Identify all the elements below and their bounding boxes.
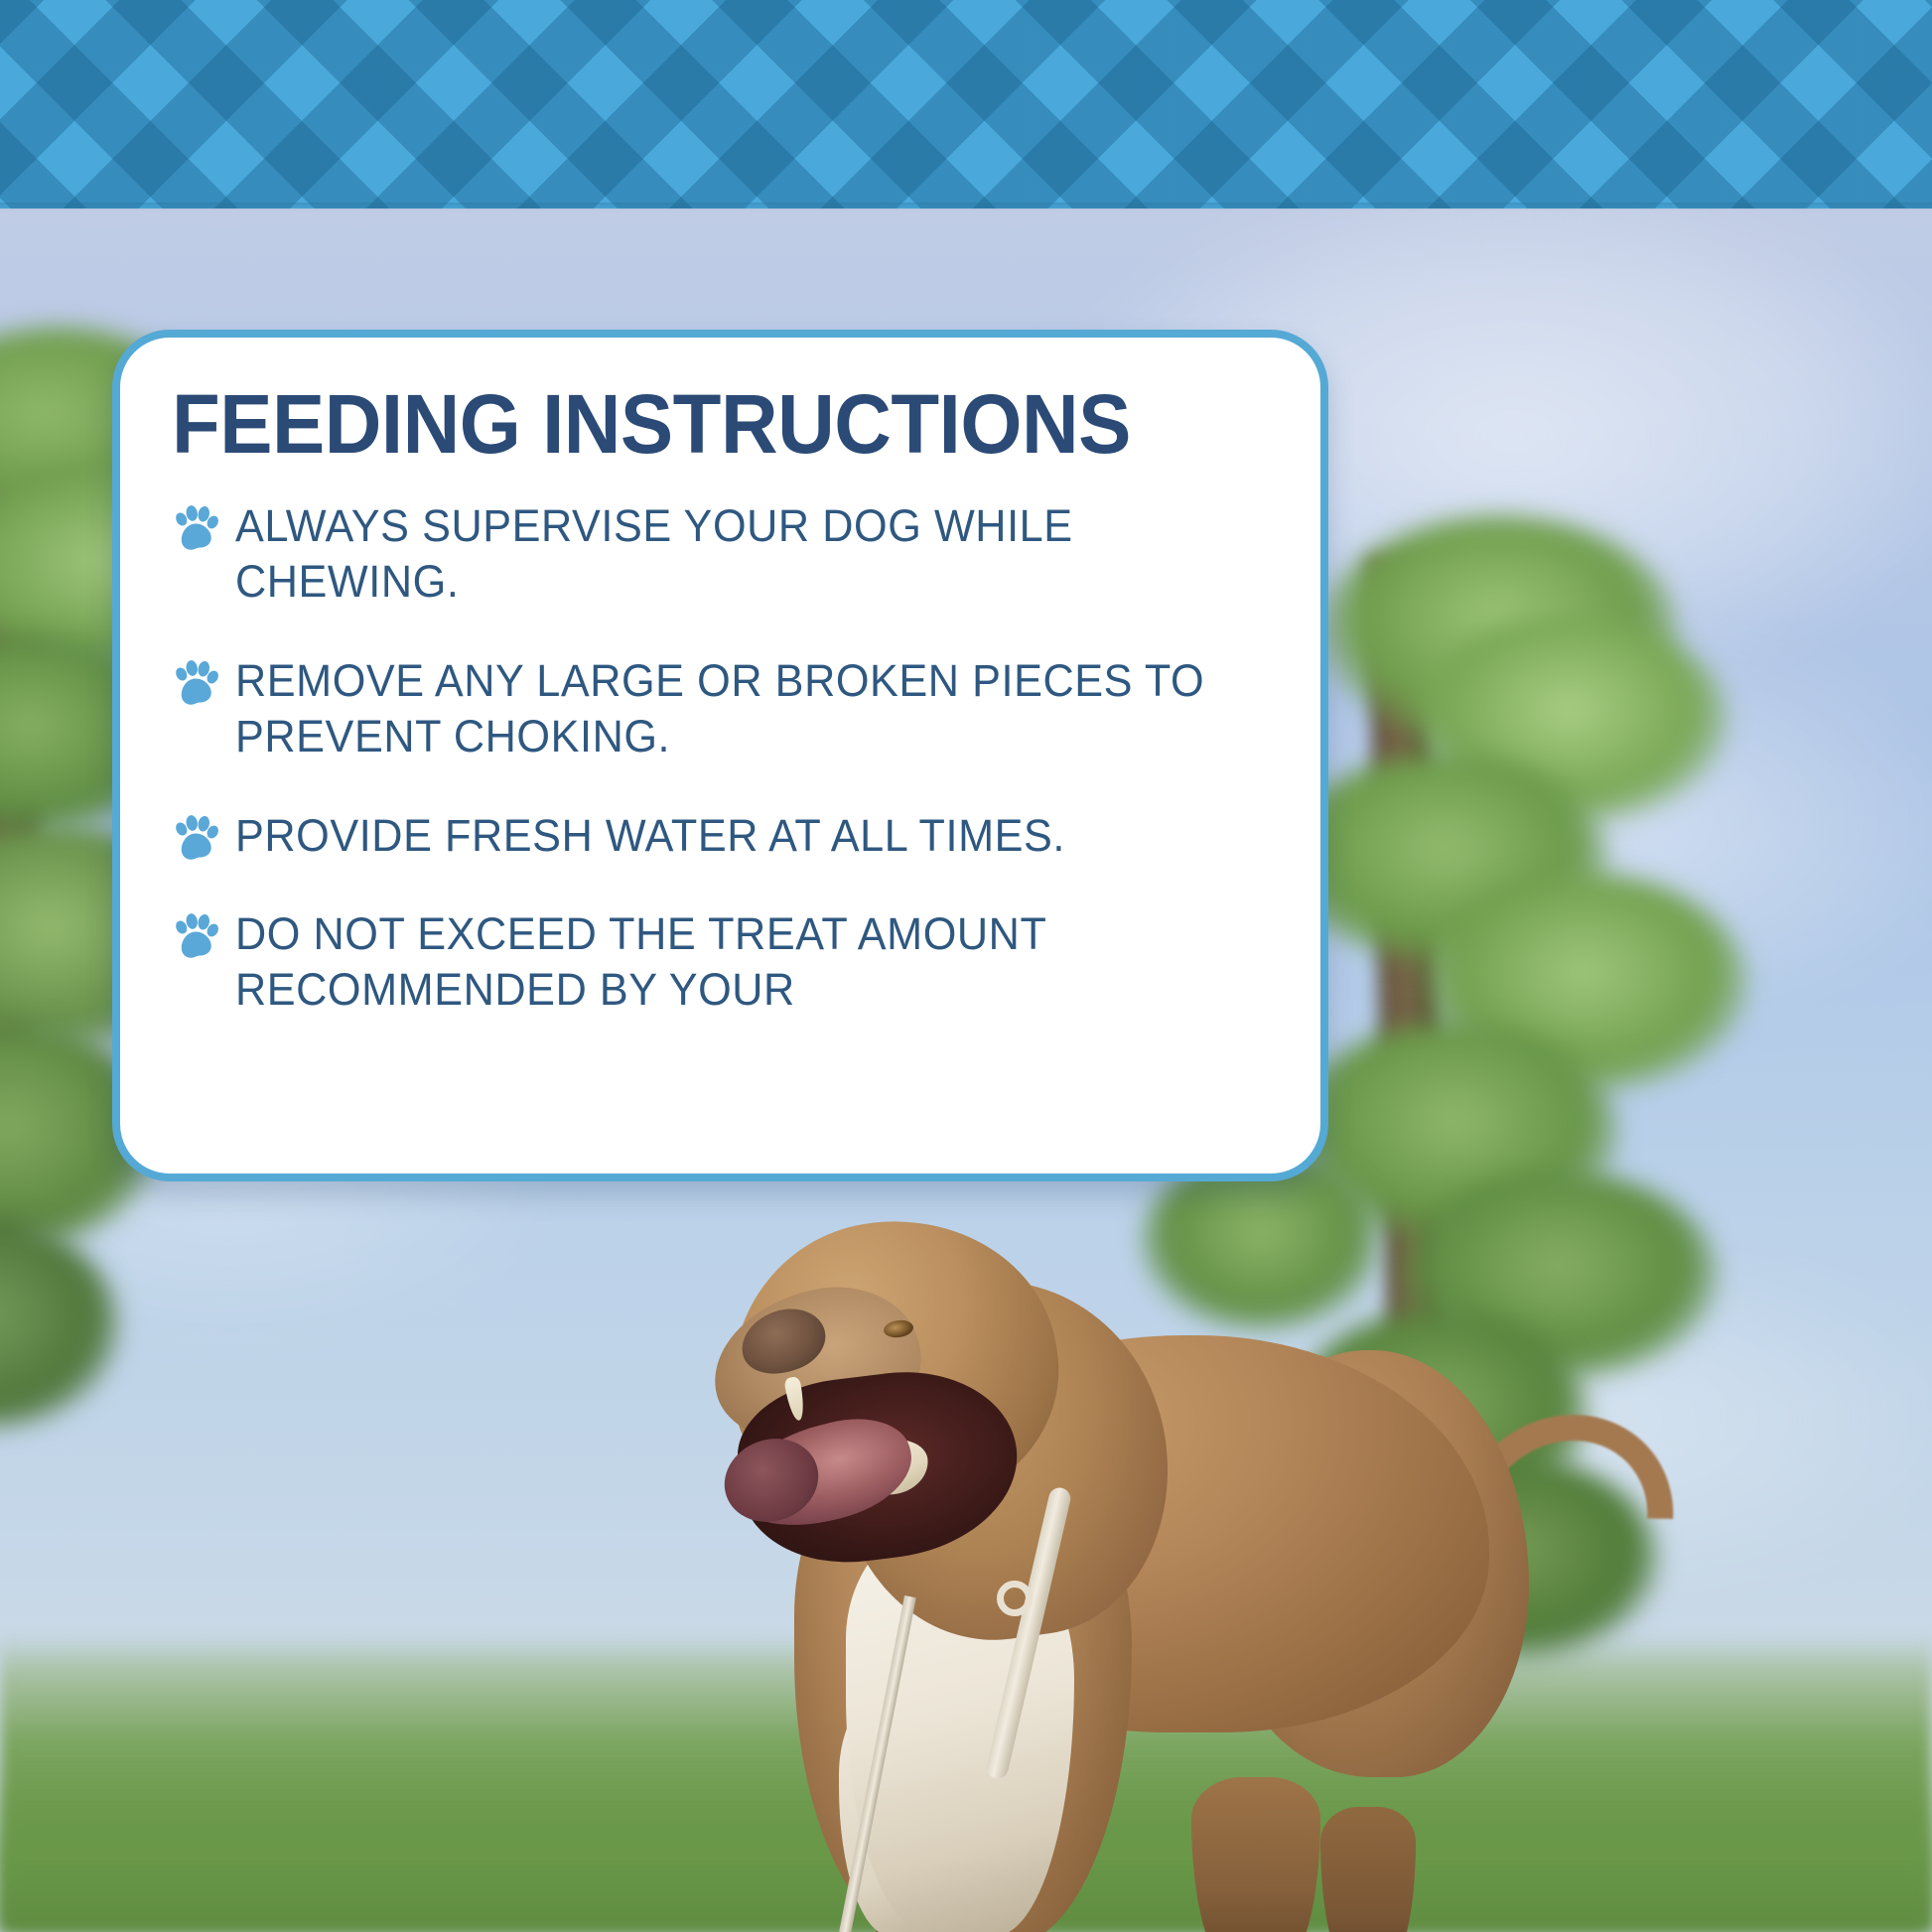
instructions-list: ALWAYS SUPERVISE YOUR DOG WHILE CHEWING. [172, 498, 1269, 1018]
list-item-label: ALWAYS SUPERVISE YOUR DOG WHILE CHEWING. [235, 498, 1217, 610]
list-item-label: DO NOT EXCEED THE TREAT AMOUNT RECOMMEND… [235, 906, 1217, 1018]
list-item: DO NOT EXCEED THE TREAT AMOUNT RECOMMEND… [172, 906, 1269, 1018]
gingham-tiles [0, 0, 1932, 208]
list-item-label: REMOVE ANY LARGE OR BROKEN PIECES TO PRE… [235, 653, 1217, 764]
header-bottom-shadow [0, 203, 1932, 210]
dog-hind-leg-far [1320, 1807, 1416, 1932]
poster-canvas: FEEDING INSTRUCTIONS ALWAYS SUPERVISE [0, 0, 1932, 1932]
list-item: ALWAYS SUPERVISE YOUR DOG WHILE CHEWING. [172, 498, 1269, 610]
gingham-header-band [0, 0, 1932, 208]
paw-icon [172, 504, 219, 552]
feeding-instructions-card: FEEDING INSTRUCTIONS ALWAYS SUPERVISE [112, 330, 1328, 1181]
list-item: PROVIDE FRESH WATER AT ALL TIMES. [172, 808, 1269, 864]
dog-hind-leg [1191, 1777, 1320, 1932]
dog-collar-ring [997, 1581, 1033, 1616]
gingham-pattern [0, 0, 1932, 208]
list-item-label: PROVIDE FRESH WATER AT ALL TIMES. [235, 808, 1065, 864]
paw-icon [172, 912, 219, 960]
paw-icon [172, 659, 219, 707]
list-item: REMOVE ANY LARGE OR BROKEN PIECES TO PRE… [172, 653, 1269, 764]
page-title: FEEDING INSTRUCTIONS [172, 383, 1214, 465]
paw-icon [172, 814, 219, 862]
